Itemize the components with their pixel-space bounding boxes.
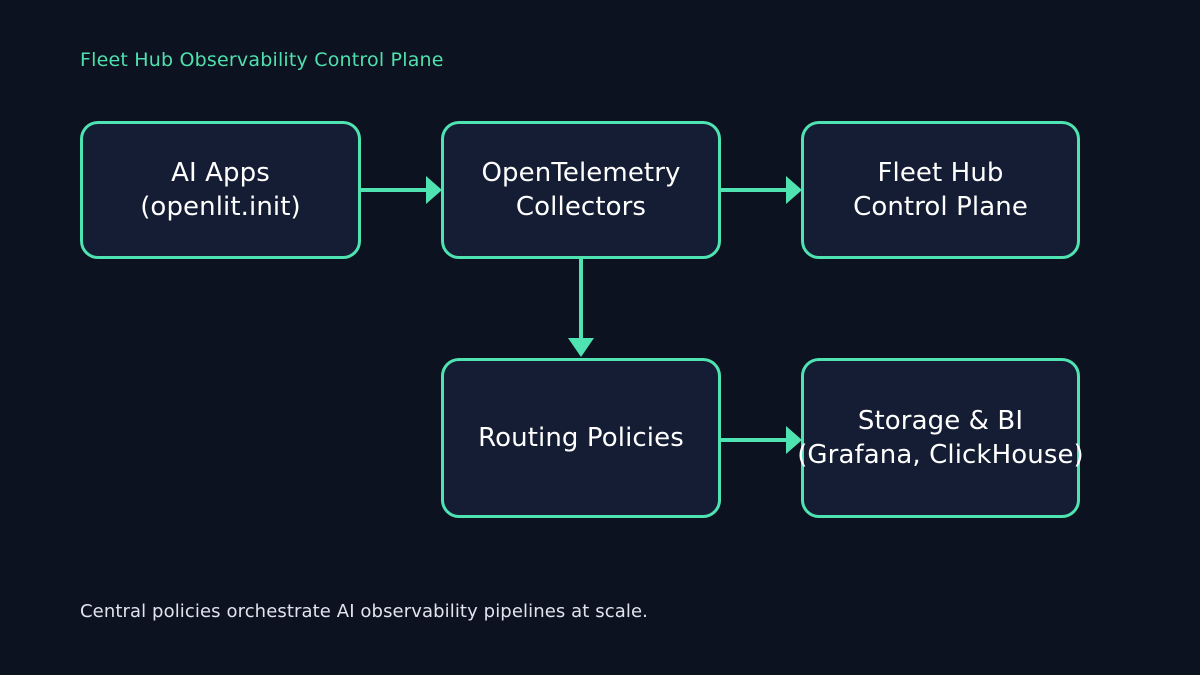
diagram-title: Fleet Hub Observability Control Plane	[80, 49, 444, 71]
edge-line-otel-to-fleet-hub	[721, 188, 787, 192]
node-storage-bi-line2: (Grafana, ClickHouse)	[797, 438, 1084, 472]
edge-line-routing-to-storage	[721, 438, 787, 442]
diagram-canvas: Fleet Hub Observability Control Plane AI…	[0, 0, 1200, 675]
edge-line-ai-apps-to-otel	[361, 188, 429, 192]
node-routing-policies-line1: Routing Policies	[478, 421, 684, 455]
node-otel-collectors-line2: Collectors	[481, 190, 680, 224]
node-otel-collectors-label: OpenTelemetry Collectors	[481, 156, 680, 224]
node-fleet-hub-control-plane[interactable]: Fleet Hub Control Plane	[801, 121, 1080, 259]
arrowhead-right-icon-ai-apps-to-otel	[426, 176, 442, 204]
node-routing-policies-label: Routing Policies	[478, 421, 684, 455]
node-storage-bi[interactable]: Storage & BI (Grafana, ClickHouse)	[801, 358, 1080, 518]
node-storage-bi-line1: Storage & BI	[797, 404, 1084, 438]
node-ai-apps-line1: AI Apps	[140, 156, 301, 190]
node-ai-apps-label: AI Apps (openlit.init)	[140, 156, 301, 224]
edge-line-otel-to-routing	[579, 259, 583, 341]
node-ai-apps[interactable]: AI Apps (openlit.init)	[80, 121, 361, 259]
node-otel-collectors-line1: OpenTelemetry	[481, 156, 680, 190]
node-fleet-hub-control-plane-label: Fleet Hub Control Plane	[853, 156, 1028, 224]
node-storage-bi-label: Storage & BI (Grafana, ClickHouse)	[797, 404, 1084, 472]
node-otel-collectors[interactable]: OpenTelemetry Collectors	[441, 121, 721, 259]
node-fleet-hub-line1: Fleet Hub	[853, 156, 1028, 190]
diagram-caption: Central policies orchestrate AI observab…	[80, 601, 648, 622]
arrowhead-down-icon-otel-to-routing	[568, 338, 594, 357]
node-fleet-hub-line2: Control Plane	[853, 190, 1028, 224]
node-routing-policies[interactable]: Routing Policies	[441, 358, 721, 518]
node-ai-apps-line2: (openlit.init)	[140, 190, 301, 224]
arrowhead-right-icon-otel-to-fleet-hub	[786, 176, 802, 204]
